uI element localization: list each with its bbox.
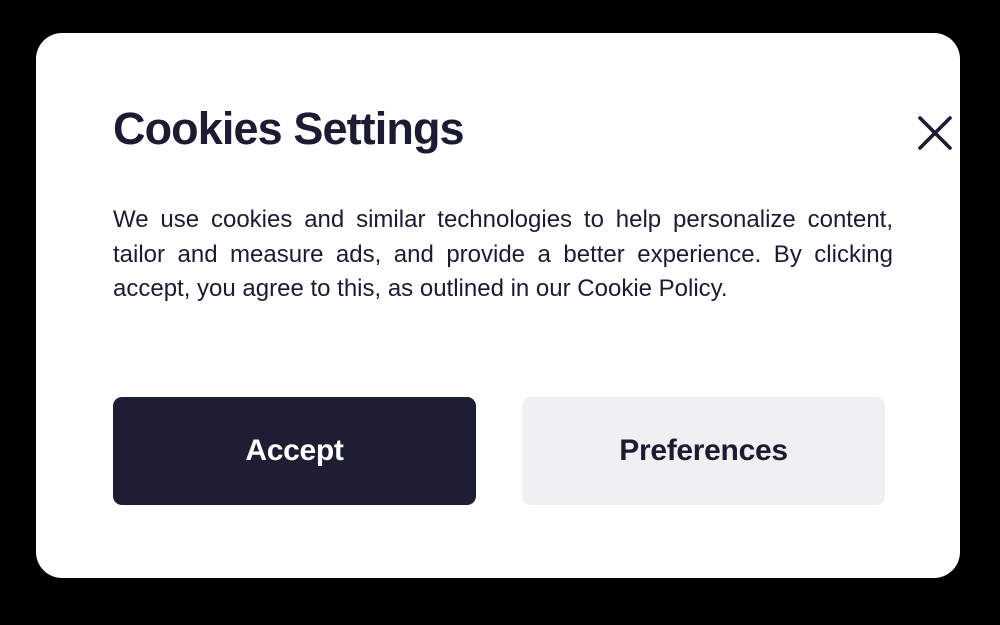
preferences-button[interactable]: Preferences	[522, 397, 885, 505]
dialog-description: We use cookies and similar technologies …	[113, 203, 893, 307]
accept-button[interactable]: Accept	[113, 397, 476, 505]
close-button[interactable]	[913, 111, 957, 155]
dialog-header: Cookies Settings	[113, 100, 958, 170]
dialog-actions: Accept Preferences	[113, 397, 885, 505]
cookie-settings-dialog: Cookies Settings We use cookies and simi…	[36, 33, 960, 578]
close-icon	[915, 113, 955, 153]
page-title: Cookies Settings	[113, 100, 464, 158]
page-root: Cookies Settings We use cookies and simi…	[0, 0, 1000, 625]
